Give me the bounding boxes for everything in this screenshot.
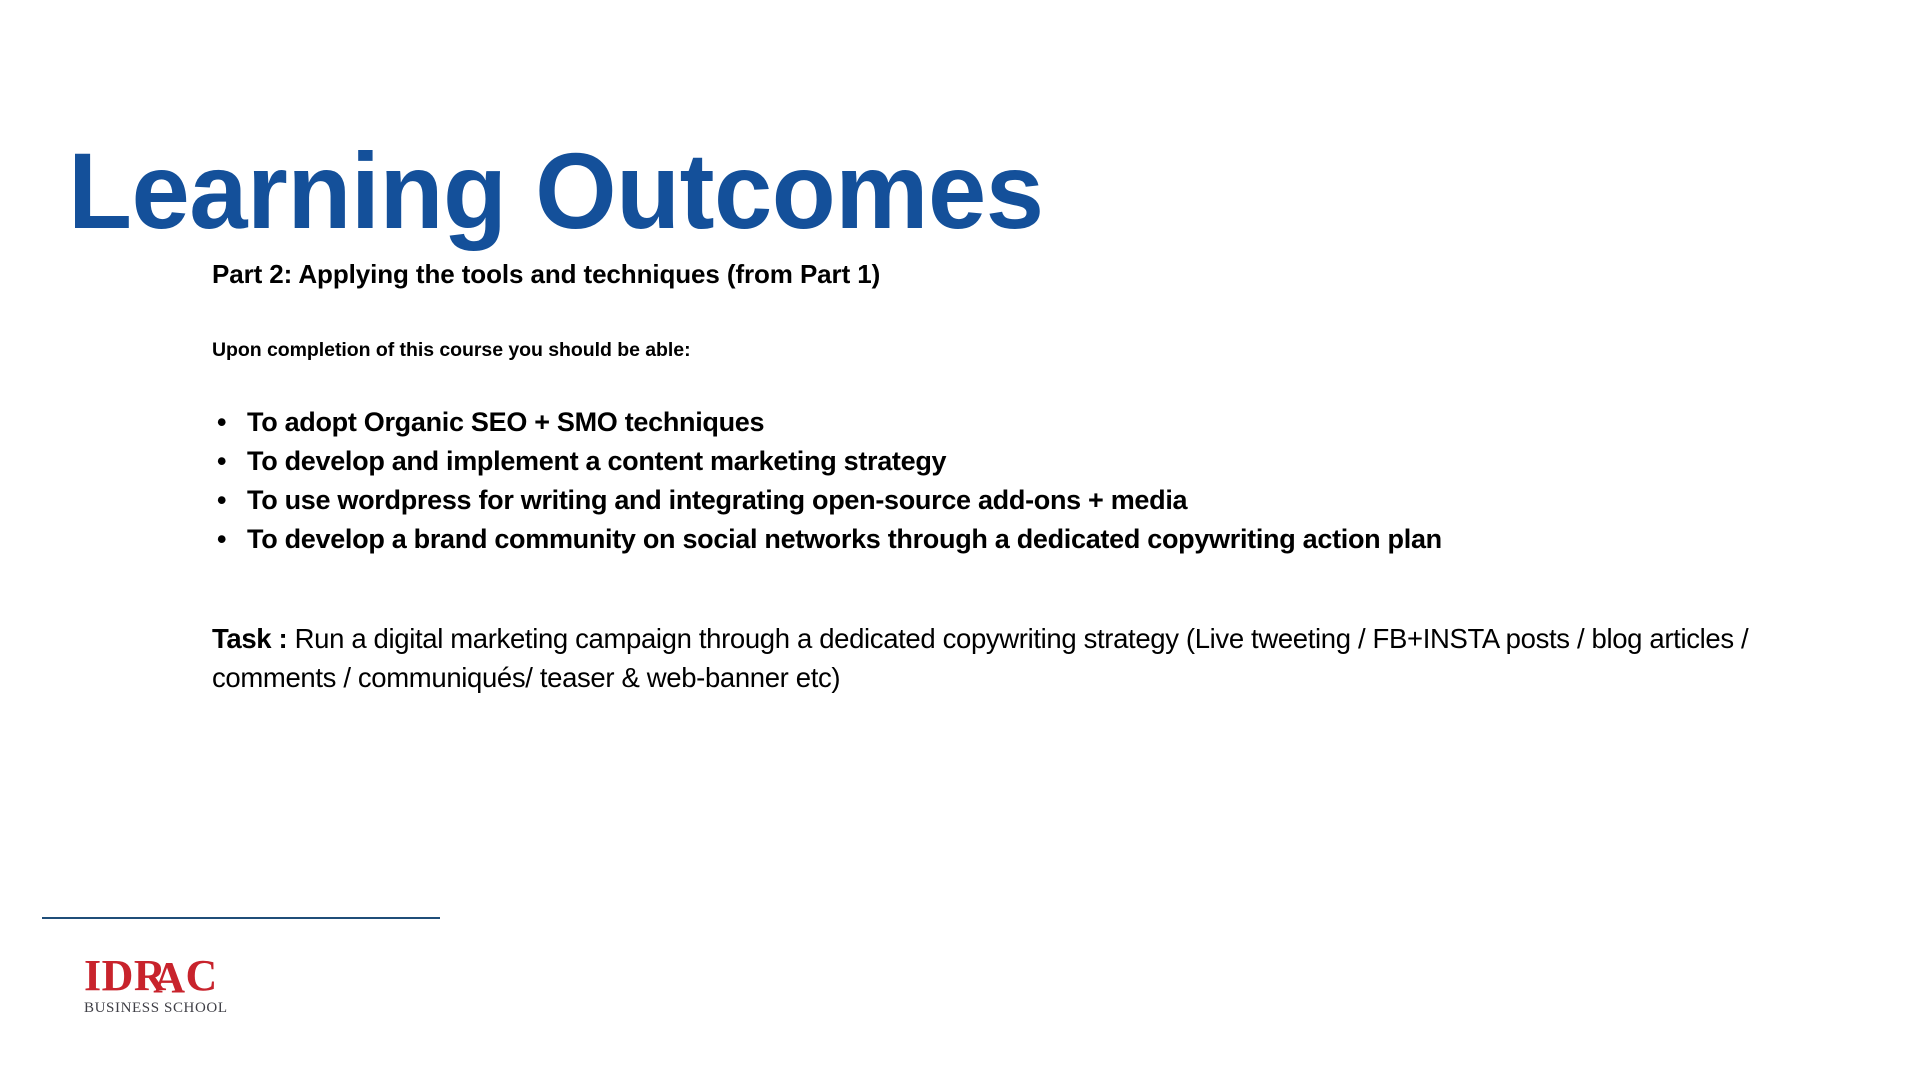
intro-line: Upon completion of this course you shoul… [212,291,1872,363]
bullet-icon: • [217,403,226,442]
page-title: Learning Outcomes [68,134,1044,247]
list-item-label: To use wordpress for writing and integra… [247,485,1187,515]
part-heading: Part 2: Applying the tools and technique… [212,258,1872,291]
list-item-label: To develop and implement a content marke… [247,446,946,476]
task-paragraph: Task : Run a digital marketing campaign … [212,586,1872,697]
list-item: • To adopt Organic SEO + SMO techniques [212,403,1872,442]
idrac-logo: IDRAC BUSINESS SCHOOL [82,955,262,1017]
bullet-icon: • [217,442,226,481]
list-item: • To use wordpress for writing and integ… [212,481,1872,520]
bullet-icon: • [217,520,226,559]
task-text: Run a digital marketing campaign through… [212,623,1748,693]
bullet-icon: • [217,481,226,520]
outcomes-list: • To adopt Organic SEO + SMO techniques … [212,363,1872,559]
list-item-label: To develop a brand community on social n… [247,524,1442,554]
slide-body: Part 2: Applying the tools and technique… [212,258,1872,725]
logo-wordmark-part2: A [153,957,185,999]
slide-canvas: Learning Outcomes Part 2: Applying the t… [0,0,1920,1080]
logo-wordmark: IDRAC [82,955,262,997]
footer-divider [42,917,440,919]
logo-wordmark-part3: C [185,951,217,1000]
list-item-label: To adopt Organic SEO + SMO techniques [247,407,764,437]
list-item: • To develop and implement a content mar… [212,442,1872,481]
list-item: • To develop a brand community on social… [212,520,1872,559]
task-label: Task : [212,623,287,654]
